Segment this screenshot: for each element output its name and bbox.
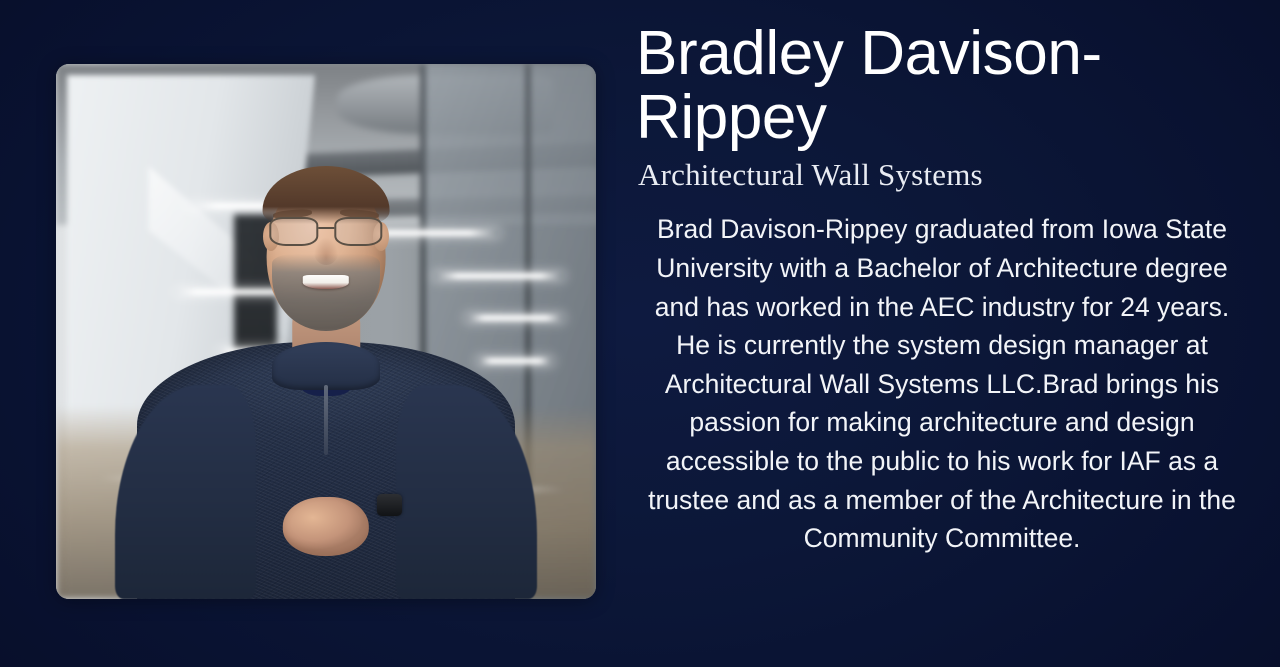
beard [272,254,380,332]
quarter-zip-collar [272,342,380,390]
text-column: Bradley Davison-Rippey Architectural Wal… [632,0,1252,667]
glasses-bridge [318,227,334,229]
left-shoulder [115,385,255,599]
zipper [324,385,328,455]
page-title: Bradley Davison-Rippey [636,22,1252,150]
left-lens [269,217,318,246]
portrait-photo [56,64,596,599]
smile [303,275,349,289]
right-shoulder [396,385,536,599]
biography-text: Brad Davison-Rippey graduated from Iowa … [632,210,1252,557]
organization-subtitle: Architectural Wall Systems [638,156,1252,195]
speaker-bio-slide: Bradley Davison-Rippey Architectural Wal… [0,0,1280,667]
photo-canvas [56,64,596,599]
photo-subject [56,64,596,599]
right-lens [334,217,383,246]
wristwatch [377,494,402,516]
clasped-hands [283,497,369,556]
